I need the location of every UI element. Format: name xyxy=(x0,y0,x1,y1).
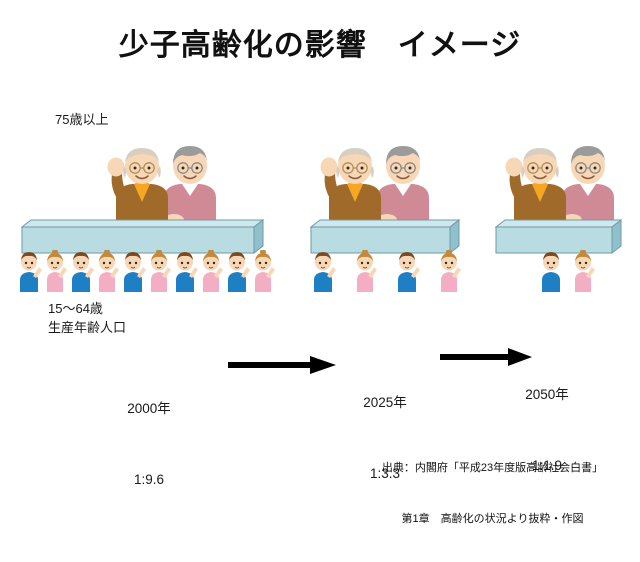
young-person-male-icon xyxy=(68,250,95,292)
young-person-male-icon xyxy=(224,250,251,292)
year-label-2025: 2025年 xyxy=(340,391,430,415)
young-person-male-icon xyxy=(172,250,199,292)
working-age-group-label: 15〜64歳 生産年齢人口 xyxy=(48,300,126,338)
young-person-male-icon xyxy=(120,250,147,292)
year-ratio-2000: 2000年 1:9.6 xyxy=(104,350,194,539)
young-person-female-icon xyxy=(571,250,596,292)
young-people-row xyxy=(310,250,462,292)
young-person-male-icon xyxy=(310,250,337,292)
young-person-female-icon xyxy=(95,250,120,292)
young-people-row xyxy=(538,250,596,292)
transition-arrow-2000-to-2025 xyxy=(228,355,336,382)
young-person-female-icon xyxy=(199,250,224,292)
year-label-2000: 2000年 xyxy=(104,397,194,421)
elderly-group-label: 75歳以上 xyxy=(55,111,108,130)
young-person-female-icon xyxy=(353,250,378,292)
slide-canvas: 少子高齢化の影響 イメージ 75歳以上 15〜64歳 生産年齢人口 xyxy=(0,0,640,480)
young-person-male-icon xyxy=(16,250,43,292)
young-person-female-icon xyxy=(437,250,462,292)
young-person-male-icon xyxy=(394,250,421,292)
source-line-2: 第1章 高齢化の状況より抜粋・作図 xyxy=(360,511,625,528)
page-title: 少子高齢化の影響 イメージ xyxy=(0,20,640,64)
source-citation: 出典：内閣府「平成23年度版高齢社会白書」 第1章 高齢化の状況より抜粋・作図 xyxy=(360,426,625,562)
young-person-female-icon xyxy=(251,250,276,292)
young-person-female-icon xyxy=(147,250,172,292)
young-person-female-icon xyxy=(43,250,68,292)
young-person-male-icon xyxy=(538,250,565,292)
source-line-1: 出典：内閣府「平成23年度版高齢社会白書」 xyxy=(360,460,625,477)
year-label-2050: 2050年 xyxy=(502,383,592,407)
young-people-row xyxy=(16,250,276,292)
